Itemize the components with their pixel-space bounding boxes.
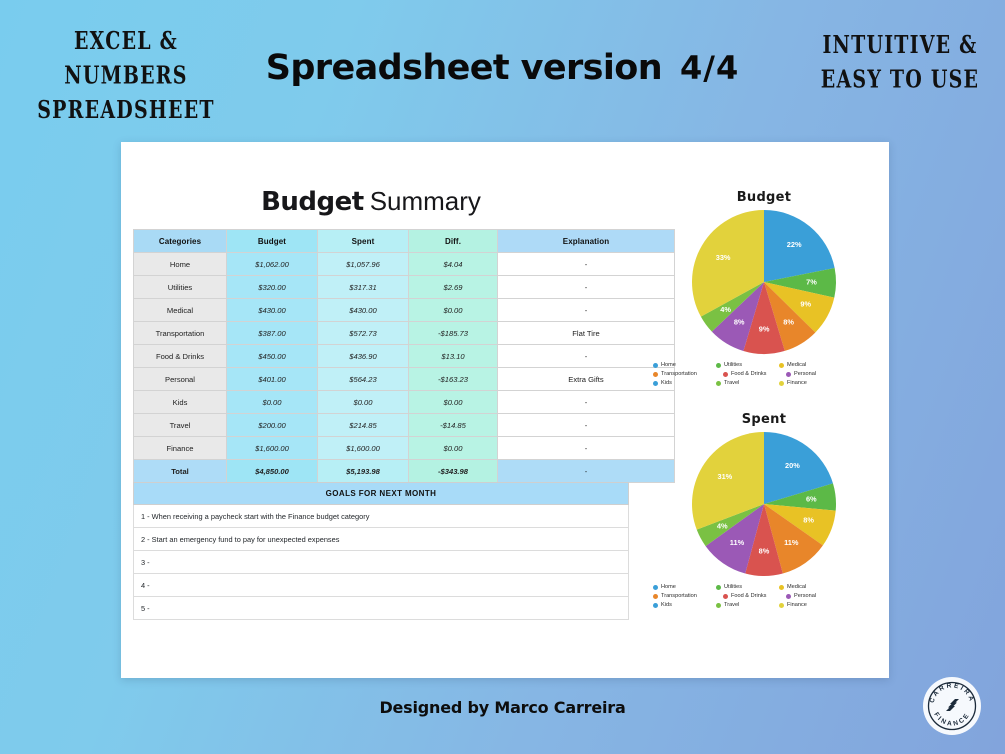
spent-chart-legend: HomeUtilitiesMedicalTransportationFood &… <box>653 585 875 611</box>
pie-slice-label: 11% <box>730 538 745 547</box>
pie-slice-label: 20% <box>785 461 800 470</box>
cell-diff[interactable]: $0.00 <box>409 391 498 414</box>
cell-category[interactable]: Medical <box>134 299 227 322</box>
legend-item[interactable]: Transportation <box>653 594 723 600</box>
legend-label: Medical <box>787 585 806 591</box>
cell-budget[interactable]: $1,600.00 <box>227 437 318 460</box>
budget-chart-title: Budget <box>641 190 887 205</box>
pie-slice-label: 7% <box>806 278 817 287</box>
table-row[interactable]: Finance $1,600.00 $1,600.00 $0.00 - <box>134 437 675 460</box>
goals-header-row: GOALS FOR NEXT MONTH <box>134 483 629 505</box>
legend-color-dot <box>653 372 658 377</box>
table-row[interactable]: Food & Drinks $450.00 $436.90 $13.10 - <box>134 345 675 368</box>
legend-color-dot <box>716 363 721 368</box>
table-row[interactable]: Kids $0.00 $0.00 $0.00 - <box>134 391 675 414</box>
spreadsheet-card: BudgetSummary Categories Budget Spent Di… <box>121 142 889 678</box>
page-title-bold: Budget <box>261 187 364 217</box>
legend-color-dot <box>723 372 728 377</box>
pie-slice-label: 22% <box>787 240 802 249</box>
legend-label: Medical <box>787 363 806 369</box>
cell-diff[interactable]: $2.69 <box>409 276 498 299</box>
legend-label: Transportation <box>661 372 697 378</box>
cell-total-label: Total <box>134 460 227 483</box>
cell-spent[interactable]: $317.31 <box>318 276 409 299</box>
legend-item[interactable]: Personal <box>786 372 849 378</box>
legend-label: Kids <box>661 603 672 609</box>
spent-pie-wrap: 20%6%8%11%8%11%4%31% <box>689 429 839 579</box>
legend-color-dot <box>779 381 784 386</box>
legend-color-dot <box>716 381 721 386</box>
legend-label: Utilities <box>724 363 742 369</box>
cell-category[interactable]: Transportation <box>134 322 227 345</box>
pie-slice-label: 8% <box>759 546 770 555</box>
goals-table-body: 1 - When receiving a paycheck start with… <box>134 505 629 620</box>
legend-color-dot <box>786 372 791 377</box>
legend-item[interactable]: Finance <box>779 381 842 387</box>
legend-label: Food & Drinks <box>731 594 766 600</box>
cell-spent[interactable]: $572.73 <box>318 322 409 345</box>
cell-budget[interactable]: $200.00 <box>227 414 318 437</box>
goals-table: GOALS FOR NEXT MONTH 1 - When receiving … <box>133 482 629 620</box>
cell-diff[interactable]: $0.00 <box>409 437 498 460</box>
cell-diff[interactable]: -$185.73 <box>409 322 498 345</box>
table-header-row: Categories Budget Spent Diff. Explanatio… <box>134 230 675 253</box>
table-row[interactable]: Travel $200.00 $214.85 -$14.85 - <box>134 414 675 437</box>
legend-item[interactable]: Finance <box>779 603 842 609</box>
designer-credit: Designed by Marco Carreira <box>0 698 1005 717</box>
table-row[interactable]: Utilities $320.00 $317.31 $2.69 - <box>134 276 675 299</box>
legend-color-dot <box>779 585 784 590</box>
legend-item[interactable]: Utilities <box>716 585 779 591</box>
goal-row[interactable]: 5 - <box>134 597 629 620</box>
legend-color-dot <box>716 585 721 590</box>
legend-color-dot <box>653 603 658 608</box>
page-title-light: Summary <box>370 186 481 216</box>
budget-pie-wrap: 22%7%9%8%9%8%4%33% <box>689 207 839 357</box>
cell-budget[interactable]: $430.00 <box>227 299 318 322</box>
cell-spent[interactable]: $430.00 <box>318 299 409 322</box>
badge-right-line1: INTUITIVE & <box>805 28 995 63</box>
cell-category[interactable]: Home <box>134 253 227 276</box>
column-header-categories[interactable]: Categories <box>134 230 227 253</box>
cell-category[interactable]: Travel <box>134 414 227 437</box>
page-title: BudgetSummary <box>121 186 621 217</box>
badge-right-line2: EASY TO USE <box>805 63 995 98</box>
table-row[interactable]: Transportation $387.00 $572.73 -$185.73 … <box>134 322 675 345</box>
pie-slice-label: 4% <box>717 522 728 531</box>
legend-item[interactable]: Transportation <box>653 372 723 378</box>
legend-label: Travel <box>724 381 739 387</box>
spent-pie-svg: 20%6%8%11%8%11%4%31% <box>689 429 839 579</box>
legend-item[interactable]: Home <box>653 363 716 369</box>
badge-left-line2: SPREADSHEET <box>12 94 240 129</box>
cell-category[interactable]: Utilities <box>134 276 227 299</box>
legend-item[interactable]: Utilities <box>716 363 779 369</box>
legend-color-dot <box>779 363 784 368</box>
budget-summary-table: Categories Budget Spent Diff. Explanatio… <box>133 229 675 483</box>
cell-budget[interactable]: $320.00 <box>227 276 318 299</box>
legend-item[interactable]: Travel <box>716 603 779 609</box>
legend-color-dot <box>779 603 784 608</box>
goal-item[interactable]: 2 - Start an emergency fund to pay for u… <box>134 528 629 551</box>
column-header-diff[interactable]: Diff. <box>409 230 498 253</box>
goal-row[interactable]: 4 - <box>134 574 629 597</box>
goal-item[interactable]: 1 - When receiving a paycheck start with… <box>134 505 629 528</box>
legend-color-dot <box>653 381 658 386</box>
legend-label: Finance <box>787 381 807 387</box>
budget-pie-chart-panel: Budget 22%7%9%8%9%8%4%33% HomeUtilitiesM… <box>641 190 887 389</box>
cell-category[interactable]: Food & Drinks <box>134 345 227 368</box>
pie-slice-label: 11% <box>784 538 799 547</box>
legend-color-dot <box>716 603 721 608</box>
goal-item[interactable]: 4 - <box>134 574 629 597</box>
legend-color-dot <box>653 585 658 590</box>
legend-label: Personal <box>794 594 816 600</box>
table-row[interactable]: Medical $430.00 $430.00 $0.00 - <box>134 299 675 322</box>
cell-spent[interactable]: $0.00 <box>318 391 409 414</box>
pie-slice-label: 31% <box>717 472 732 481</box>
legend-item[interactable]: Kids <box>653 603 716 609</box>
cell-diff[interactable]: -$163.23 <box>409 368 498 391</box>
banner-version: 4/4 <box>680 49 739 87</box>
cell-diff[interactable]: $4.04 <box>409 253 498 276</box>
cell-budget[interactable]: $387.00 <box>227 322 318 345</box>
legend-item[interactable]: Personal <box>786 594 849 600</box>
goal-row[interactable]: 3 - <box>134 551 629 574</box>
cell-diff[interactable]: $13.10 <box>409 345 498 368</box>
cell-total-spent: $5,193.98 <box>318 460 409 483</box>
spent-chart-title: Spent <box>641 412 887 427</box>
cell-budget[interactable]: $450.00 <box>227 345 318 368</box>
spent-pie-chart-panel: Spent 20%6%8%11%8%11%4%31% HomeUtilities… <box>641 412 887 611</box>
cell-spent[interactable]: $564.23 <box>318 368 409 391</box>
badge-intuitive-easy: INTUITIVE & EASY TO USE <box>805 28 995 97</box>
legend-label: Transportation <box>661 594 697 600</box>
cell-budget[interactable]: $401.00 <box>227 368 318 391</box>
legend-label: Home <box>661 585 676 591</box>
pie-slice-label: 4% <box>720 305 731 314</box>
cell-total-diff: -$343.98 <box>409 460 498 483</box>
legend-color-dot <box>723 594 728 599</box>
cell-category[interactable]: Kids <box>134 391 227 414</box>
legend-color-dot <box>653 594 658 599</box>
cell-budget[interactable]: $1,062.00 <box>227 253 318 276</box>
budget-table-body: Home $1,062.00 $1,057.96 $4.04 - Utiliti… <box>134 253 675 483</box>
legend-label: Kids <box>661 381 672 387</box>
cell-spent[interactable]: $1,600.00 <box>318 437 409 460</box>
banner-title-main: Spreadsheet version <box>266 48 662 88</box>
cell-category[interactable]: Finance <box>134 437 227 460</box>
legend-item[interactable]: Food & Drinks <box>723 372 786 378</box>
legend-label: Home <box>661 363 676 369</box>
legend-item[interactable]: Kids <box>653 381 716 387</box>
cell-budget[interactable]: $0.00 <box>227 391 318 414</box>
goal-row[interactable]: 2 - Start an emergency fund to pay for u… <box>134 528 629 551</box>
cell-diff[interactable]: -$14.85 <box>409 414 498 437</box>
pie-slice-label: 8% <box>783 318 794 327</box>
pie-slice-label: 33% <box>716 253 731 262</box>
legend-label: Food & Drinks <box>731 372 766 378</box>
carreira-finance-logo: CARREIRA FINANCE <box>921 675 983 737</box>
cell-diff[interactable]: $0.00 <box>409 299 498 322</box>
goal-row[interactable]: 1 - When receiving a paycheck start with… <box>134 505 629 528</box>
cell-spent[interactable]: $436.90 <box>318 345 409 368</box>
legend-label: Finance <box>787 603 807 609</box>
legend-color-dot <box>653 363 658 368</box>
legend-label: Personal <box>794 372 816 378</box>
budget-chart-legend: HomeUtilitiesMedicalTransportationFood &… <box>653 363 875 389</box>
table-total-row[interactable]: Total $4,850.00 $5,193.98 -$343.98 - <box>134 460 675 483</box>
legend-item[interactable]: Medical <box>779 363 842 369</box>
pie-slice-label: 9% <box>800 300 811 309</box>
legend-color-dot <box>786 594 791 599</box>
goals-header: GOALS FOR NEXT MONTH <box>134 483 629 505</box>
budget-pie-svg: 22%7%9%8%9%8%4%33% <box>689 207 839 357</box>
table-row[interactable]: Personal $401.00 $564.23 -$163.23 Extra … <box>134 368 675 391</box>
pie-slice-label: 8% <box>734 317 745 326</box>
cell-spent[interactable]: $214.85 <box>318 414 409 437</box>
cell-category[interactable]: Personal <box>134 368 227 391</box>
legend-item[interactable]: Travel <box>716 381 779 387</box>
column-header-budget[interactable]: Budget <box>227 230 318 253</box>
top-banner: EXCEL & NUMBERS SPREADSHEET Spreadsheet … <box>0 0 1005 128</box>
goal-item[interactable]: 5 - <box>134 597 629 620</box>
table-row[interactable]: Home $1,062.00 $1,057.96 $4.04 - <box>134 253 675 276</box>
cell-spent[interactable]: $1,057.96 <box>318 253 409 276</box>
pie-slice-label: 6% <box>806 494 817 503</box>
pie-slice-label: 9% <box>759 324 770 333</box>
pie-slice-label: 8% <box>803 515 814 524</box>
legend-item[interactable]: Food & Drinks <box>723 594 786 600</box>
legend-label: Travel <box>724 603 739 609</box>
legend-item[interactable]: Medical <box>779 585 842 591</box>
column-header-spent[interactable]: Spent <box>318 230 409 253</box>
goal-item[interactable]: 3 - <box>134 551 629 574</box>
legend-label: Utilities <box>724 585 742 591</box>
cell-total-budget: $4,850.00 <box>227 460 318 483</box>
cell-explanation[interactable]: - <box>498 391 675 414</box>
legend-item[interactable]: Home <box>653 585 716 591</box>
